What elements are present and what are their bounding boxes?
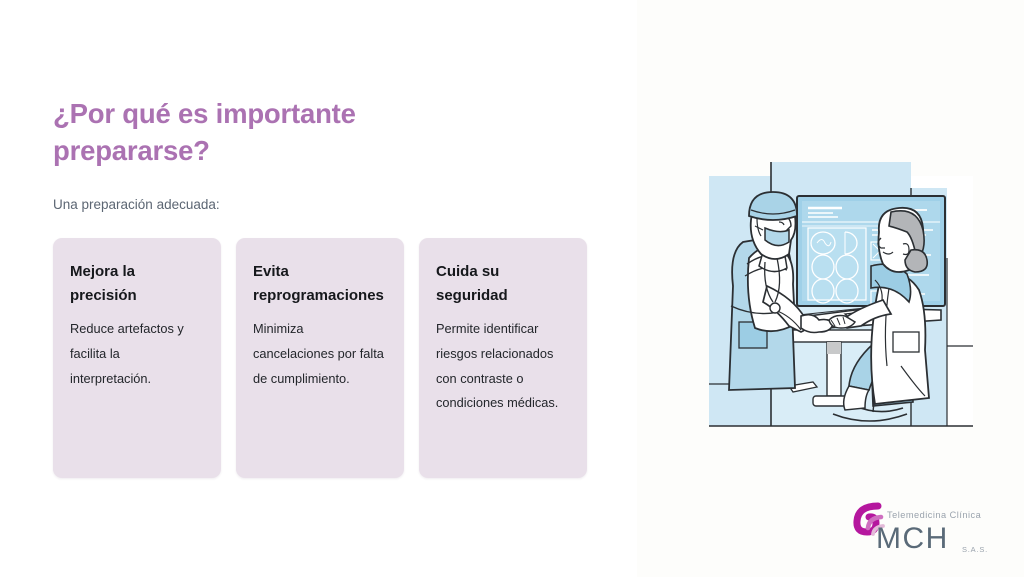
logo-tagline: Telemedicina Clínica — [887, 510, 982, 520]
benefit-card-body: Minimiza cancelaciones por falta de cump… — [253, 307, 387, 391]
heading-block: ¿Por qué es importante prepararse? Una p… — [53, 96, 613, 215]
benefit-card: Mejora la precisión Reduce artefactos y … — [53, 238, 221, 478]
page-title: ¿Por qué es importante prepararse? — [53, 96, 433, 169]
mch-logo: Telemedicina Clínica MCH S.A.S. — [852, 500, 992, 562]
benefit-card-body: Permite identificar riesgos relacionados… — [436, 307, 570, 415]
benefit-card-body: Reduce artefactos y facilita la interpre… — [70, 307, 204, 391]
benefit-card-title: Evita reprogramaciones — [253, 260, 387, 307]
benefit-card: Evita reprogramaciones Minimiza cancelac… — [236, 238, 404, 478]
slide-canvas: ¿Por qué es importante prepararse? Una p… — [0, 0, 1024, 577]
logo-suffix: S.A.S. — [962, 545, 988, 554]
benefit-card-list: Mejora la precisión Reduce artefactos y … — [53, 238, 587, 478]
benefit-card: Cuida su seguridad Permite identificar r… — [419, 238, 587, 478]
radiology-consultation-illustration — [705, 158, 977, 430]
benefit-card-title: Cuida su seguridad — [436, 260, 570, 307]
benefit-card-title: Mejora la precisión — [70, 260, 204, 307]
page-subtitle: Una preparación adecuada: — [53, 169, 613, 215]
logo-wordmark: MCH — [876, 522, 949, 555]
